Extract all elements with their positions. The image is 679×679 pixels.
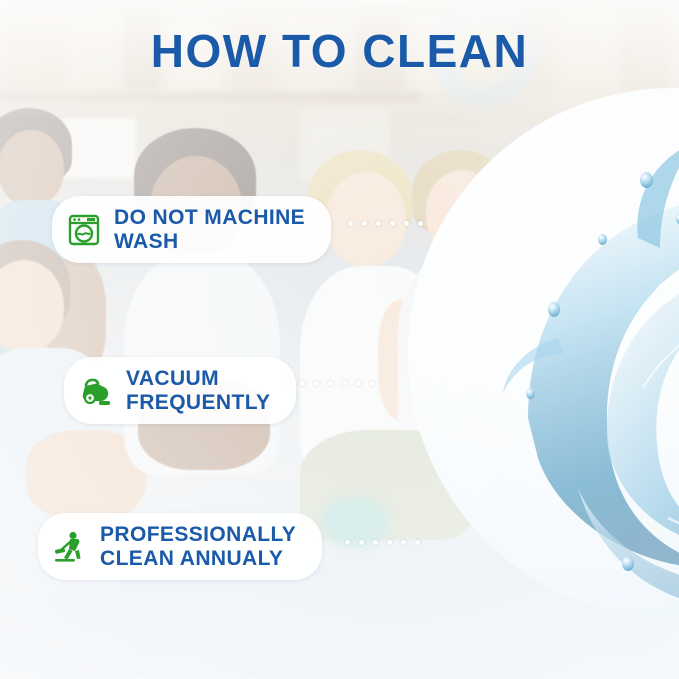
page-title: HOW TO CLEAN xyxy=(0,28,679,74)
feature-do-not-machine-wash: DO NOT MACHINE WASH xyxy=(52,196,331,263)
feature-label: VACUUM FREQUENTLY xyxy=(126,367,270,414)
washing-machine-icon xyxy=(66,212,102,248)
dotted-connector xyxy=(300,381,375,386)
poster: HOW TO CLEAN DO NOT MACHINE WASH xyxy=(0,0,679,679)
dotted-connector xyxy=(345,540,420,545)
feature-vacuum-frequently: VACUUM FREQUENTLY xyxy=(64,357,296,424)
vacuum-cleaner-icon xyxy=(78,373,114,409)
dotted-connector xyxy=(348,221,423,226)
feature-professionally-clean-annualy: PROFESSIONALLY CLEAN ANNUALY xyxy=(38,513,322,580)
feature-label: DO NOT MACHINE WASH xyxy=(114,206,305,253)
carpet-cleaner-person-icon xyxy=(52,529,88,565)
feature-label: PROFESSIONALLY CLEAN ANNUALY xyxy=(100,523,296,570)
water-splash-circle xyxy=(408,88,679,618)
